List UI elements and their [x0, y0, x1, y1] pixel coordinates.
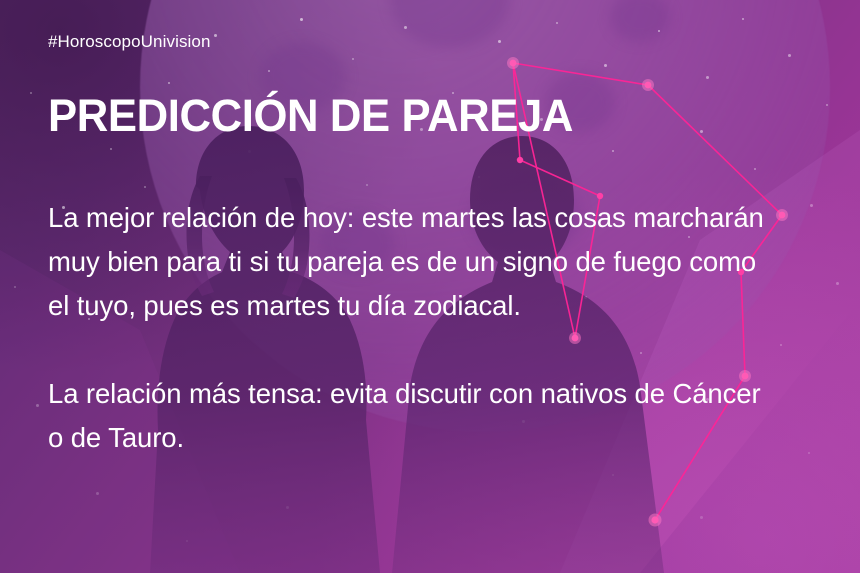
paragraph-best-relationship: La mejor relación de hoy: este martes la…: [48, 196, 774, 328]
content-area: #HoroscopoUnivision PREDICCIÓN DE PAREJA…: [48, 0, 788, 573]
paragraph-tense-relationship: La relación más tensa: evita discutir co…: [48, 372, 774, 460]
hashtag-label: #HoroscopoUnivision: [48, 32, 211, 52]
body-text: La mejor relación de hoy: este martes la…: [48, 196, 774, 460]
horoscope-card: #HoroscopoUnivision PREDICCIÓN DE PAREJA…: [0, 0, 860, 573]
page-title: PREDICCIÓN DE PAREJA: [48, 93, 573, 139]
